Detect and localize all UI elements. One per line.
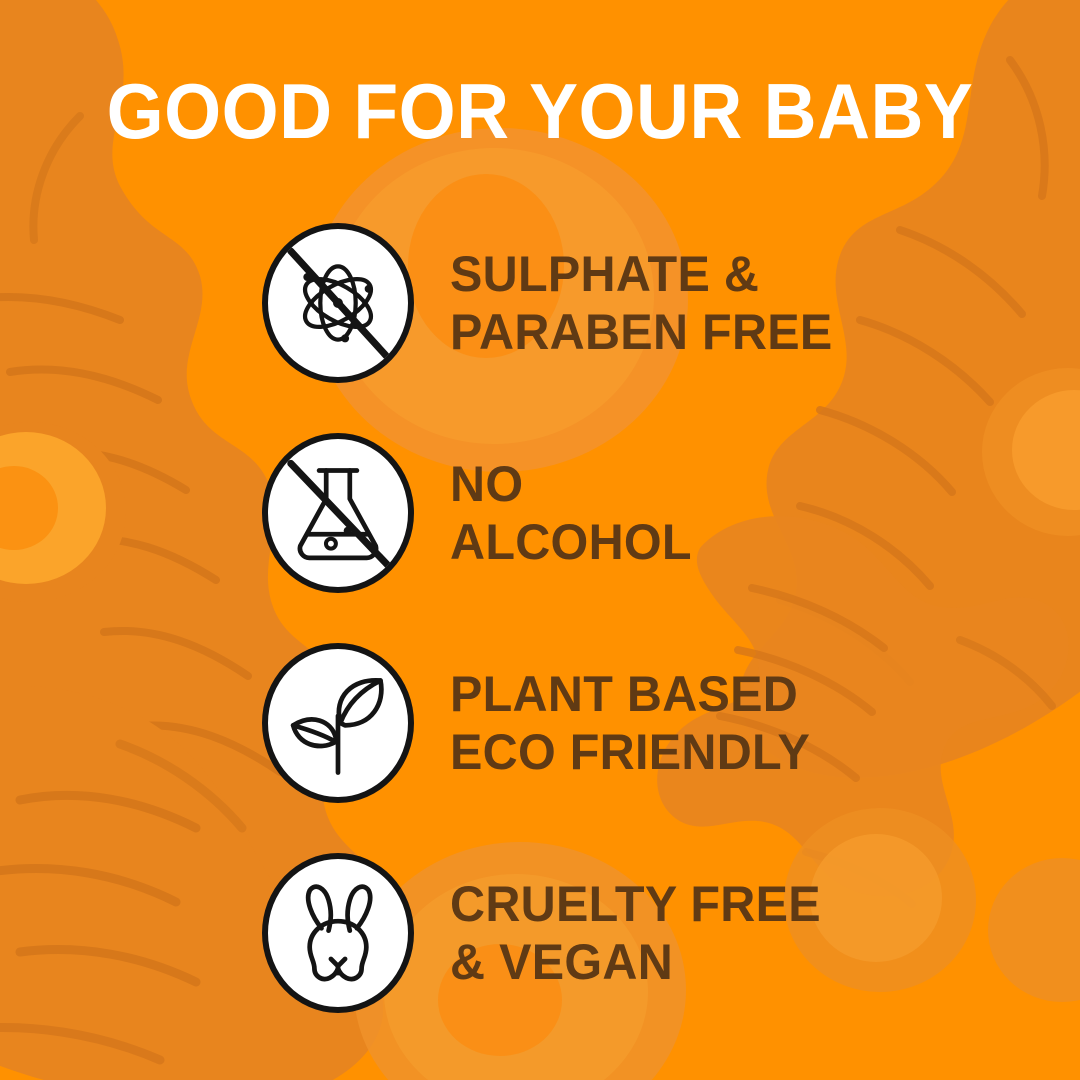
icon-badge: [262, 643, 414, 803]
feature-label: NO ALCOHOL: [450, 455, 692, 571]
icon-badge: [262, 223, 414, 383]
feature-item-sulphate-paraben-free: SULPHATE & PARABEN FREE: [0, 218, 1080, 388]
cruelty-free-icon: [279, 874, 397, 992]
promo-graphic: GOOD FOR YOUR BABY SULPHA: [0, 0, 1080, 1080]
no-sulphate-paraben-icon: [279, 244, 397, 362]
icon-badge: [262, 853, 414, 1013]
icon-badge: [262, 433, 414, 593]
feature-item-cruelty-free-vegan: CRUELTY FREE & VEGAN: [0, 848, 1080, 1018]
plant-based-icon: [279, 664, 397, 782]
feature-label: PLANT BASED ECO FRIENDLY: [450, 665, 810, 781]
no-alcohol-icon: [279, 454, 397, 572]
header: GOOD FOR YOUR BABY: [0, 72, 1080, 150]
feature-list: SULPHATE & PARABEN FREE NO ALCOHOL: [0, 218, 1080, 1018]
feature-label: CRUELTY FREE & VEGAN: [450, 875, 821, 991]
feature-item-no-alcohol: NO ALCOHOL: [0, 428, 1080, 598]
feature-item-plant-based: PLANT BASED ECO FRIENDLY: [0, 638, 1080, 808]
feature-label: SULPHATE & PARABEN FREE: [450, 245, 833, 361]
page-title: GOOD FOR YOUR BABY: [107, 72, 974, 150]
